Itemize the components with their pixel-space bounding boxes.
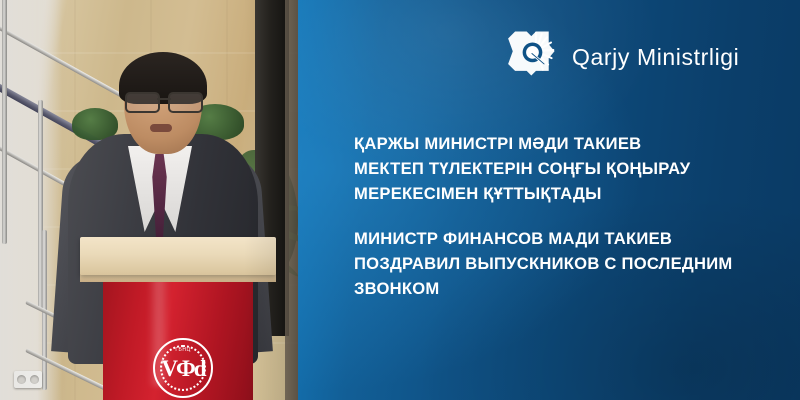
lens-right [168, 92, 203, 113]
headline-kazakh: ҚАРЖЫ МИНИСТРІ МӘДИ ТАКИЕВ МЕКТЕП ТҮЛЕКТ… [354, 131, 774, 206]
lens-left [125, 92, 160, 113]
headline-russian-line-2: ПОЗДРАВИЛ ВЫПУСКНИКОВ С ПОСЛЕДНИМ [354, 251, 774, 276]
podium-emblem-top-text: ГБНЦ [175, 347, 190, 353]
stair-post [2, 0, 7, 244]
glasses-bridge [157, 98, 171, 100]
speaker-photo: ГБНЦ VФd [0, 0, 305, 400]
news-banner: ГБНЦ VФd [0, 0, 800, 400]
headline-russian: МИНИСТР ФИНАНСОВ МАДИ ТАКИЕВ ПОЗДРАВИЛ В… [354, 226, 774, 301]
headline-kazakh-line-1: ҚАРЖЫ МИНИСТРІ МӘДИ ТАКИЕВ [354, 131, 774, 156]
podium-emblem: ГБНЦ VФd [153, 338, 213, 398]
headline-russian-line-1: МИНИСТР ФИНАНСОВ МАДИ ТАКИЕВ [354, 226, 774, 251]
podium-top-surface [80, 237, 276, 275]
brand-wordmark: Qarjy Ministrligi [572, 44, 739, 71]
headline-kazakh-line-2: МЕКТЕП ТҮЛЕКТЕРІН СОҢҒЫ ҚОҢЫРАУ [354, 156, 774, 181]
headline-russian-line-3: ЗВОНКОМ [354, 276, 774, 301]
blue-text-panel: Qarjy Ministrligi ҚАРЖЫ МИНИСТРІ МӘДИ ТА… [298, 0, 800, 400]
eyeglasses-icon [124, 92, 204, 110]
mouth [150, 124, 172, 132]
wall-power-outlet [14, 371, 42, 388]
qarjy-ministry-emblem-icon [500, 28, 558, 86]
podium-emblem-monogram: VФd [161, 356, 204, 382]
brand-logo[interactable]: Qarjy Ministrligi [500, 28, 739, 86]
headline-kazakh-line-3: МЕРЕКЕСІМЕН ҚҰТТЫҚТАДЫ [354, 181, 774, 206]
